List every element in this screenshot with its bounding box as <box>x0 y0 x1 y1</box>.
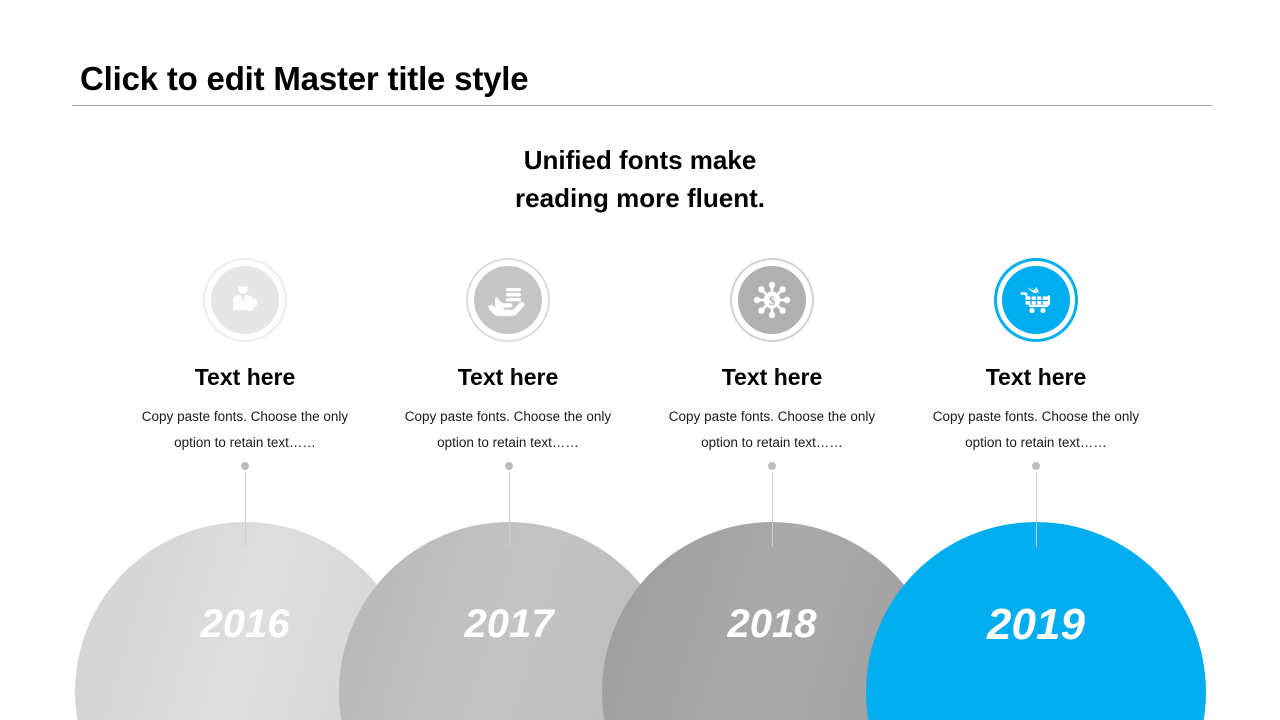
connector-2019 <box>1032 462 1040 547</box>
icon-disc-2018: $ <box>738 266 806 334</box>
hand-money-icon <box>487 279 529 321</box>
svg-text:$: $ <box>769 293 776 308</box>
column-body-2016: Copy paste fonts. Choose the only option… <box>115 404 375 457</box>
connector-dot-icon <box>1032 462 1040 470</box>
icon-disc-2019 <box>1002 266 1070 334</box>
connector-stem <box>245 472 246 547</box>
connector-dot-icon <box>768 462 776 470</box>
column-body-line-1: Copy paste fonts. Choose the only <box>142 409 348 424</box>
icon-disc-2016 <box>211 266 279 334</box>
year-label-2018: 2018 <box>672 602 872 647</box>
connector-dot-icon <box>505 462 513 470</box>
timeline-column-2017[interactable]: Text here Copy paste fonts. Choose the o… <box>378 258 638 457</box>
connector-2017 <box>505 462 513 547</box>
column-heading-2016: Text here <box>115 364 375 391</box>
icon-ring-2018: $ <box>730 258 814 342</box>
icon-ring-2017 <box>466 258 550 342</box>
user-check-icon <box>225 280 265 320</box>
column-heading-2018: Text here <box>642 364 902 391</box>
icon-ring-2019 <box>994 258 1078 342</box>
dollar-network-icon: $ <box>751 279 793 321</box>
column-body-line-2: option to retain text…… <box>701 435 843 450</box>
connector-stem <box>772 472 773 547</box>
column-body-line-2: option to retain text…… <box>437 435 579 450</box>
column-body-2019: Copy paste fonts. Choose the only option… <box>906 404 1166 457</box>
icon-ring-2016 <box>203 258 287 342</box>
timeline-column-2019[interactable]: Text here Copy paste fonts. Choose the o… <box>906 258 1166 457</box>
column-heading-2017: Text here <box>378 364 638 391</box>
timeline-column-2016[interactable]: Text here Copy paste fonts. Choose the o… <box>115 258 375 457</box>
column-body-line-2: option to retain text…… <box>174 435 316 450</box>
column-body-line-1: Copy paste fonts. Choose the only <box>933 409 1139 424</box>
column-body-2017: Copy paste fonts. Choose the only option… <box>378 404 638 457</box>
column-body-2018: Copy paste fonts. Choose the only option… <box>642 404 902 457</box>
connector-dot-icon <box>241 462 249 470</box>
year-label-2016: 2016 <box>145 602 345 647</box>
connector-2016 <box>241 462 249 547</box>
icon-disc-2017 <box>474 266 542 334</box>
column-body-line-1: Copy paste fonts. Choose the only <box>405 409 611 424</box>
timeline-column-2018[interactable]: $ Text here Copy paste fonts. Choose the… <box>642 258 902 457</box>
column-body-line-2: option to retain text…… <box>965 435 1107 450</box>
year-label-2017: 2017 <box>409 602 609 647</box>
year-label-2019: 2019 <box>936 600 1136 650</box>
connector-2018 <box>768 462 776 547</box>
column-body-line-1: Copy paste fonts. Choose the only <box>669 409 875 424</box>
connector-stem <box>1036 472 1037 547</box>
connector-stem <box>509 472 510 547</box>
column-heading-2019: Text here <box>906 364 1166 391</box>
shopping-cart-icon <box>1015 279 1057 321</box>
